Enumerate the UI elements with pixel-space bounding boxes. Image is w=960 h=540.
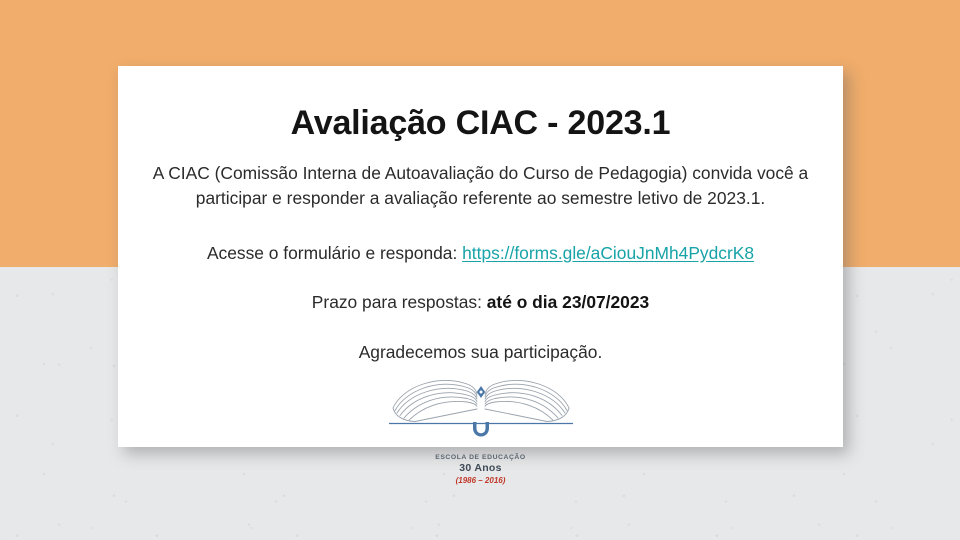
- logo-anniversary: 30 Anos: [381, 462, 581, 474]
- logo-school-name: ESCOLA DE EDUCAÇÃO: [381, 454, 581, 461]
- card-content: Avaliação CIAC - 2023.1 A CIAC (Comissão…: [128, 66, 833, 365]
- logo-stem: [473, 422, 489, 437]
- escola-de-educacao-logo: ESCOLA DE EDUCAÇÃO 30 Anos (1986 – 2016): [381, 366, 581, 485]
- intro-paragraph: A CIAC (Comissão Interna de Autoavaliaçã…: [136, 143, 825, 210]
- logo-graphic: [381, 366, 581, 452]
- logo-years: (1986 – 2016): [381, 476, 581, 485]
- content-card: Avaliação CIAC - 2023.1 A CIAC (Comissão…: [118, 66, 843, 447]
- form-link-label: Acesse o formulário e responda:: [207, 243, 462, 263]
- page-title: Avaliação CIAC - 2023.1: [128, 66, 833, 143]
- form-link-line: Acesse o formulário e responda: https://…: [128, 211, 833, 266]
- deadline-value: até o dia 23/07/2023: [487, 292, 649, 312]
- deadline-line: Prazo para respostas: até o dia 23/07/20…: [128, 265, 833, 315]
- thanks-line: Agradecemos sua participação.: [128, 315, 833, 365]
- slide-canvas: Avaliação CIAC - 2023.1 A CIAC (Comissão…: [0, 0, 960, 540]
- deadline-label: Prazo para respostas:: [312, 292, 487, 312]
- form-url-link[interactable]: https://forms.gle/aCiouJnMh4PydcrK8: [462, 243, 754, 263]
- logo-diamond-ornament: [476, 386, 484, 398]
